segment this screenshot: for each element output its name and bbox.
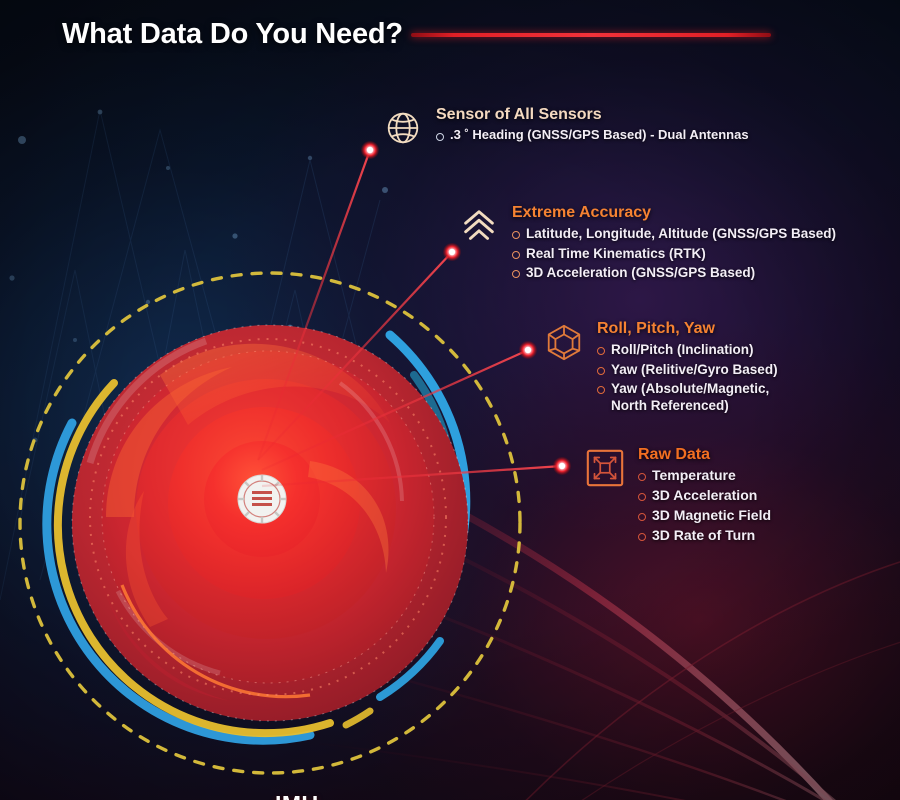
cube-icon xyxy=(543,321,585,363)
list-item: 3D Acceleration (GNSS/GPS Based) xyxy=(512,264,836,281)
list-item: .3 ˚ Heading (GNSS/GPS Based) - Dual Ant… xyxy=(436,127,749,144)
list-item: Latitude, Longitude, Altitude (GNSS/GPS … xyxy=(512,225,836,242)
callout-sensor-of-all-sensors[interactable]: Sensor of All Sensors .3 ˚ Heading (GNSS… xyxy=(382,106,749,149)
page-title: What Data Do You Need? xyxy=(62,18,403,51)
sensor-chip-icon xyxy=(584,447,626,489)
list-item: 3D Rate of Turn xyxy=(638,527,771,545)
title-underline-rule xyxy=(411,33,771,37)
list-item: Real Time Kinematics (RTK) xyxy=(512,245,836,262)
chevrons-up-icon xyxy=(458,205,500,247)
callout-item-list: Latitude, Longitude, Altitude (GNSS/GPS … xyxy=(512,225,836,281)
list-item: Yaw (Relitive/Gyro Based) xyxy=(597,361,778,378)
list-item: 3D Magnetic Field xyxy=(638,507,771,525)
list-item: Roll/Pitch (Inclination) xyxy=(597,341,778,358)
callout-roll-pitch-yaw[interactable]: Roll, Pitch, Yaw Roll/Pitch (Inclination… xyxy=(543,320,778,416)
globe-icon xyxy=(382,107,424,149)
list-item: 3D Acceleration xyxy=(638,487,771,505)
list-item: Temperature xyxy=(638,467,771,485)
callout-heading: Roll, Pitch, Yaw xyxy=(597,320,778,338)
list-item: Yaw (Absolute/Magnetic, North Referenced… xyxy=(597,380,778,415)
concentric-rings-diagram: IMU AHRS INS+RTK Dual Antenna INS xyxy=(10,255,530,775)
yellow-tick-bottom xyxy=(346,711,370,725)
callout-heading: Raw Data xyxy=(638,446,771,464)
callout-heading: Extreme Accuracy xyxy=(512,204,836,222)
imu-chip-badge xyxy=(238,475,286,523)
callout-heading: Sensor of All Sensors xyxy=(436,106,749,124)
page-header: What Data Do You Need? xyxy=(62,18,771,51)
callout-raw-data[interactable]: Raw Data Temperature 3D Acceleration 3D … xyxy=(584,446,771,547)
callout-item-list: .3 ˚ Heading (GNSS/GPS Based) - Dual Ant… xyxy=(436,127,749,144)
infographic-canvas: What Data Do You Need? xyxy=(0,0,900,800)
callout-extreme-accuracy[interactable]: Extreme Accuracy Latitude, Longitude, Al… xyxy=(458,204,836,283)
ring-label-imu: IMU xyxy=(275,791,319,800)
rings-svg xyxy=(10,255,530,775)
callout-item-list: Temperature 3D Acceleration 3D Magnetic … xyxy=(638,467,771,545)
callout-item-list: Roll/Pitch (Inclination) Yaw (Relitive/G… xyxy=(597,341,778,414)
